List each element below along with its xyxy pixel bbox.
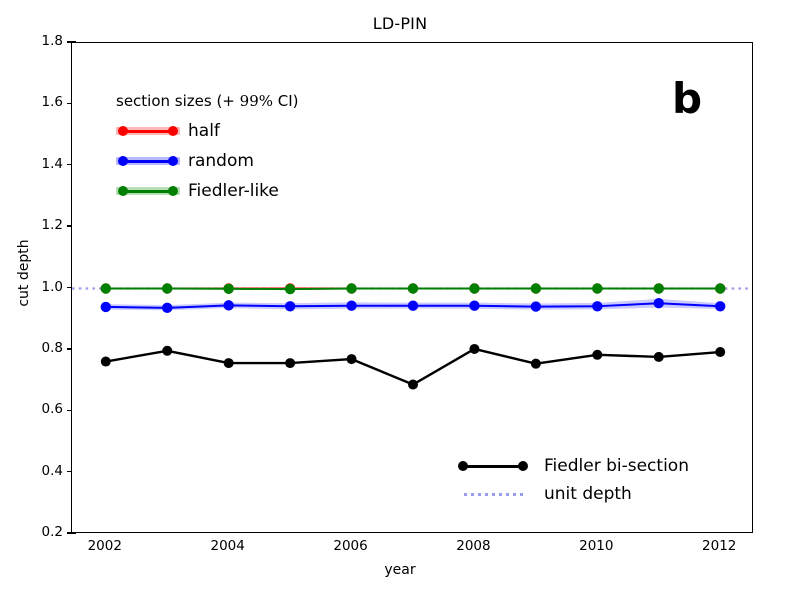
legend-marker: [118, 126, 128, 136]
data-point-fiedler-bi-section: [469, 344, 479, 354]
legend-marker: [168, 186, 178, 196]
legend-swatch: [452, 483, 538, 505]
data-point-fiedler-bi-section: [162, 346, 172, 356]
data-point-fiedler-bi-section: [285, 358, 295, 368]
legend-item-fiedler-like[interactable]: Fiedler-like: [112, 176, 362, 206]
legend-swatch: [112, 150, 184, 172]
data-point-random: [408, 300, 418, 310]
panel-label: b: [672, 78, 702, 120]
legend-section-sizes-title: section sizes (+ 99% CI): [112, 92, 362, 110]
data-point-fiedler-bi-section: [408, 380, 418, 390]
legend-marker: [118, 156, 128, 166]
legend-item-label: half: [184, 121, 220, 141]
data-point-fiedler-bi-section: [101, 357, 111, 367]
legend-series: Fiedler bi-sectionunit depth: [452, 452, 742, 508]
data-point-fiedler-like: [101, 283, 111, 293]
y-tick-label: 1.2: [3, 217, 63, 233]
legend-item-label: unit depth: [538, 484, 632, 504]
data-point-fiedler-like: [654, 283, 664, 293]
legend-title-suffix: CI): [273, 92, 299, 110]
x-tick-label: 2008: [433, 538, 513, 554]
x-axis-label: year: [0, 562, 800, 578]
legend-series-rows: Fiedler bi-sectionunit depth: [452, 452, 742, 508]
data-point-fiedler-like: [469, 283, 479, 293]
legend-item-label: Fiedler bi-section: [538, 456, 689, 476]
legend-marker: [518, 461, 528, 471]
y-tick-label: 1.6: [3, 94, 63, 110]
legend-item-fiedler-bi-section[interactable]: Fiedler bi-section: [452, 452, 742, 480]
data-point-fiedler-bi-section: [224, 358, 234, 368]
legend-item-half[interactable]: half: [112, 116, 362, 146]
legend-item-label: Fiedler-like: [184, 181, 279, 201]
x-tick-label: 2010: [556, 538, 636, 554]
data-point-fiedler-like: [285, 284, 295, 294]
data-point-fiedler-bi-section: [654, 352, 664, 362]
y-tick-label: 0.6: [3, 401, 63, 417]
data-point-random: [101, 302, 111, 312]
legend-section-sizes: section sizes (+ 99% CI) halfrandomFiedl…: [112, 92, 362, 206]
legend-marker: [458, 461, 468, 471]
data-point-fiedler-like: [162, 283, 172, 293]
legend-section-sizes-rows: halfrandomFiedler-like: [112, 116, 362, 206]
legend-marker: [168, 156, 178, 166]
y-tick-label: 1.4: [3, 156, 63, 172]
legend-marker: [118, 186, 128, 196]
legend-item-unit-depth[interactable]: unit depth: [452, 480, 742, 508]
y-tick-label: 0.8: [3, 340, 63, 356]
y-tick-label: 0.4: [3, 463, 63, 479]
chart-figure: LD-PIN cut depth year 0.20.40.60.81.01.2…: [0, 0, 800, 600]
data-point-fiedler-like: [715, 283, 725, 293]
x-tick-label: 2012: [679, 538, 759, 554]
page-title: LD-PIN: [0, 14, 800, 33]
x-tick-label: 2002: [65, 538, 145, 554]
series-line-fiedler-bi-section: [106, 349, 720, 385]
data-point-random: [285, 301, 295, 311]
legend-title-prefix: section sizes (+: [116, 92, 240, 110]
data-point-random: [469, 300, 479, 310]
legend-title-confidence: 99%: [240, 92, 273, 110]
data-point-fiedler-like: [223, 284, 233, 294]
x-tick-label: 2004: [188, 538, 268, 554]
legend-marker: [168, 126, 178, 136]
data-point-random: [592, 301, 602, 311]
data-point-random: [346, 300, 356, 310]
legend-dotted-line: [464, 493, 524, 496]
x-tick-label: 2006: [311, 538, 391, 554]
legend-item-random[interactable]: random: [112, 146, 362, 176]
data-point-fiedler-like: [592, 283, 602, 293]
y-tick-label: 1.0: [3, 279, 63, 295]
data-point-random: [715, 301, 725, 311]
data-point-fiedler-bi-section: [715, 347, 725, 357]
data-point-random: [654, 298, 664, 308]
legend-swatch: [452, 455, 538, 477]
legend-item-label: random: [184, 151, 254, 171]
data-point-random: [531, 301, 541, 311]
data-point-random: [223, 300, 233, 310]
y-tick-label: 1.8: [3, 33, 63, 49]
y-tick-label: 0.2: [3, 524, 63, 540]
data-point-fiedler-bi-section: [531, 359, 541, 369]
data-point-random: [162, 303, 172, 313]
data-point-fiedler-bi-section: [592, 350, 602, 360]
legend-swatch: [112, 180, 184, 202]
legend-line: [462, 465, 524, 468]
data-point-fiedler-like: [346, 283, 356, 293]
data-point-fiedler-bi-section: [347, 354, 357, 364]
data-point-fiedler-like: [408, 283, 418, 293]
legend-swatch: [112, 120, 184, 142]
data-point-fiedler-like: [531, 283, 541, 293]
